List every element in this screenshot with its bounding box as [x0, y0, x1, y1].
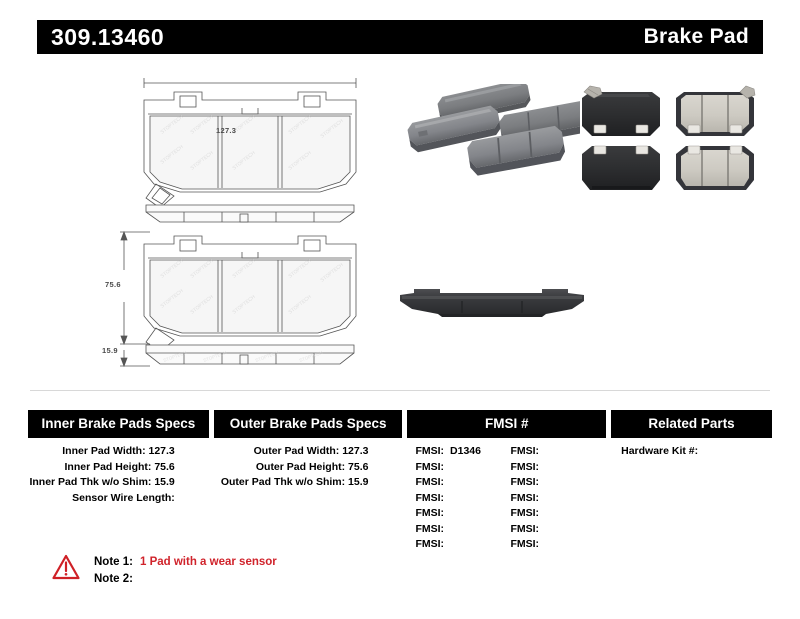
dimension-label-thickness: 15.9: [102, 346, 118, 355]
column-header-fmsi: FMSI #: [407, 410, 606, 438]
pad-edge-photo: [396, 287, 588, 329]
spec-table: Inner Brake Pads Specs Outer Brake Pads …: [28, 410, 772, 553]
pads-angled-group-photo: [400, 84, 580, 188]
column-header-outer: Outer Brake Pads Specs: [214, 410, 403, 438]
table-header-row: Inner Brake Pads Specs Outer Brake Pads …: [28, 410, 772, 438]
fmsi-label: FMSI:: [510, 492, 539, 504]
fmsi-value: [444, 492, 450, 504]
fmsi-label: FMSI:: [415, 445, 444, 457]
fmsi-label: FMSI:: [415, 461, 444, 473]
column-header-related-parts: Related Parts: [611, 410, 772, 438]
related-parts-cell: Hardware Kit #:: [611, 444, 772, 553]
fmsi-value: [539, 461, 545, 473]
edge-strip-bottom-drawing: STOPTECH STOPTECH STOPTECH STOPTECH: [144, 343, 356, 367]
outer-spec-thickness: Outer Pad Thk w/o Shim: 15.9: [214, 475, 403, 491]
inner-specs-cell: Inner Pad Width: 127.3 Inner Pad Height:…: [28, 444, 209, 553]
fmsi-label: FMSI:: [510, 476, 539, 488]
fmsi-row: FMSI:: [415, 460, 510, 476]
fmsi-cell: FMSI:D1346 FMSI: FMSI: FMSI: FMSI: FMSI:…: [407, 444, 606, 553]
fmsi-column-right: FMSI: FMSI: FMSI: FMSI: FMSI: FMSI: FMSI…: [510, 444, 605, 553]
fmsi-row: FMSI:: [510, 444, 605, 460]
table-body-row: Inner Pad Width: 127.3 Inner Pad Height:…: [28, 444, 772, 553]
fmsi-value: [444, 523, 450, 535]
fmsi-value: [444, 507, 450, 519]
fmsi-row: FMSI:: [510, 491, 605, 507]
part-number: 309.13460: [51, 24, 164, 51]
fmsi-value: [539, 538, 545, 550]
hardware-kit-label: Hardware Kit #:: [611, 444, 772, 460]
note-2-value: [133, 573, 140, 585]
fmsi-column-left: FMSI:D1346 FMSI: FMSI: FMSI: FMSI: FMSI:…: [415, 444, 510, 553]
fmsi-row: FMSI:: [415, 522, 510, 538]
fmsi-value: [444, 476, 450, 488]
fmsi-row: FMSI:: [510, 537, 605, 553]
fmsi-value: [444, 461, 450, 473]
fmsi-row: FMSI:: [510, 506, 605, 522]
drawing-area: STOPTECH STOPTECH STOPTECH STOPTECH STOP…: [0, 58, 800, 390]
fmsi-label: FMSI:: [510, 538, 539, 550]
fmsi-row: FMSI:: [510, 522, 605, 538]
notes-section: Note 1:1 Pad with a wear sensor Note 2:: [52, 554, 277, 588]
title-bar: 309.13460 Brake Pad: [37, 20, 763, 54]
inner-spec-width: Inner Pad Width: 127.3: [28, 444, 209, 460]
fmsi-value: D1346: [444, 445, 481, 457]
fmsi-label: FMSI:: [510, 523, 539, 535]
fmsi-row: FMSI:: [510, 475, 605, 491]
fmsi-row: FMSI:: [415, 506, 510, 522]
note-1-value: 1 Pad with a wear sensor: [133, 556, 277, 568]
outer-spec-height: Outer Pad Height: 75.6: [214, 460, 403, 476]
fmsi-row: FMSI:: [510, 460, 605, 476]
note-2-row: Note 2:: [94, 571, 277, 588]
pads-grid-group-photo: [578, 82, 760, 194]
fmsi-label: FMSI:: [415, 492, 444, 504]
fmsi-row: FMSI:: [415, 537, 510, 553]
fmsi-value: [539, 507, 545, 519]
fmsi-label: FMSI:: [415, 523, 444, 535]
fmsi-row: FMSI:: [415, 491, 510, 507]
outer-spec-width: Outer Pad Width: 127.3: [214, 444, 403, 460]
fmsi-label: FMSI:: [510, 445, 539, 457]
notes-text-block: Note 1:1 Pad with a wear sensor Note 2:: [94, 554, 277, 588]
fmsi-row: FMSI:D1346: [415, 444, 510, 460]
fmsi-label: FMSI:: [510, 507, 539, 519]
fmsi-label: FMSI:: [510, 461, 539, 473]
column-header-inner: Inner Brake Pads Specs: [28, 410, 209, 438]
fmsi-label: FMSI:: [415, 538, 444, 550]
fmsi-label: FMSI:: [415, 507, 444, 519]
fmsi-value: [539, 492, 545, 504]
dimension-label-width: 127.3: [216, 126, 236, 135]
note-1-row: Note 1:1 Pad with a wear sensor: [94, 554, 277, 571]
fmsi-value: [539, 523, 545, 535]
dimension-label-height: 75.6: [105, 280, 121, 289]
warning-triangle-icon: [52, 554, 80, 580]
edge-strip-top-drawing: [144, 203, 356, 225]
note-1-label: Note 1:: [94, 556, 133, 568]
section-divider: [30, 390, 770, 391]
fmsi-value: [444, 538, 450, 550]
fmsi-row: FMSI:: [415, 475, 510, 491]
product-type: Brake Pad: [644, 25, 749, 49]
outer-specs-cell: Outer Pad Width: 127.3 Outer Pad Height:…: [214, 444, 403, 553]
inner-spec-sensor-wire-length: Sensor Wire Length:: [28, 491, 209, 507]
fmsi-label: FMSI:: [415, 476, 444, 488]
fmsi-value: [539, 445, 545, 457]
fmsi-value: [539, 476, 545, 488]
inner-spec-height: Inner Pad Height: 75.6: [28, 460, 209, 476]
front-view-top-drawing: STOPTECH STOPTECH STOPTECH STOPTECH STOP…: [130, 72, 370, 222]
note-2-label: Note 2:: [94, 573, 133, 585]
inner-spec-thickness: Inner Pad Thk w/o Shim: 15.9: [28, 475, 209, 491]
